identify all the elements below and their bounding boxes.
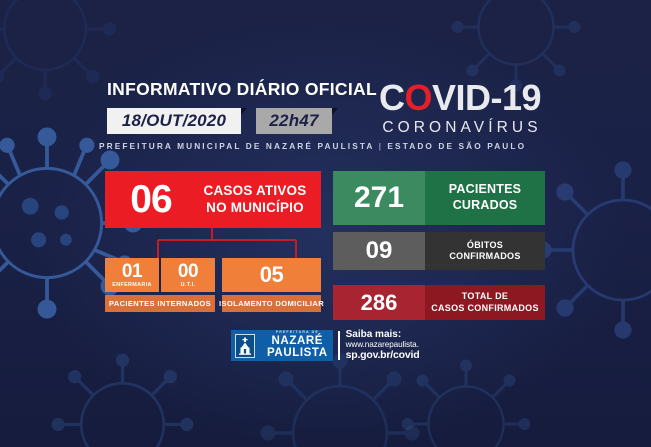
subtitle-state: ESTADO DE SÃO PAULO <box>387 141 526 151</box>
total-confirmed-value: 286 <box>333 285 425 320</box>
hospitalized-icu-cell: 00 U.T.I. <box>159 258 215 292</box>
city-crest-icon <box>235 334 255 358</box>
home-isolation-cells: 05 <box>222 258 321 292</box>
covid-letter-o-accent: O <box>404 77 432 118</box>
virus-decoration-icon <box>40 342 205 447</box>
cured-value: 271 <box>333 171 425 225</box>
breakdown-connector <box>148 228 318 259</box>
covid-wordmark: COVID-19 <box>364 80 556 116</box>
active-cases-label-line2: NO MUNICÍPIO <box>206 200 304 217</box>
cured-label-line2: CURADOS <box>453 198 518 214</box>
hospitalized-cells: 01 ENFERMARIA 00 U.T.I. <box>105 258 215 292</box>
hospitalized-icu-value: 00 <box>178 262 198 281</box>
infographic-canvas: INFORMATIVO DIÁRIO OFICIAL 18/OUT/2020 2… <box>0 0 651 447</box>
stat-card-cured: 271 PACIENTES CURADOS <box>333 171 545 225</box>
covid19-logo: COVID-19 CORONAVÍRUS <box>364 80 556 136</box>
deaths-value: 09 <box>333 232 425 270</box>
covid-word-rest: VID-19 <box>432 77 541 118</box>
home-isolation-value: 05 <box>260 264 283 286</box>
total-confirmed-label-line1: TOTAL DE <box>462 291 508 302</box>
home-isolation-footer-label: ISOLAMENTO DOMICILIAR <box>222 295 321 312</box>
city-name-line1: NAZARÉ <box>267 336 328 348</box>
home-isolation-cell: 05 <box>222 258 321 292</box>
date-badge: 18/OUT/2020 <box>107 108 241 134</box>
hospitalized-ward-value: 01 <box>122 262 142 281</box>
subtitle-bar: PREFEITURA MUNICIPAL DE NAZARÉ PAULISTA … <box>99 141 526 151</box>
breakdown-hospitalized: 01 ENFERMARIA 00 U.T.I. PACIENTES INTERN… <box>105 258 215 312</box>
cured-label: PACIENTES CURADOS <box>425 171 545 225</box>
time-badge-label: 22h47 <box>269 111 318 131</box>
date-badge-label: 18/OUT/2020 <box>122 111 226 131</box>
footer-divider <box>338 331 340 360</box>
website-block[interactable]: Saiba mais: www.nazarepaulista. sp.gov.b… <box>346 330 420 361</box>
city-brand: PREFEITURA DE NAZARÉ PAULISTA <box>231 330 333 361</box>
footer-bar: PREFEITURA DE NAZARÉ PAULISTA Saiba mais… <box>231 330 419 361</box>
deaths-label-line2: CONFIRMADOS <box>449 251 520 262</box>
stat-card-total-confirmed: 286 TOTAL DE CASOS CONFIRMADOS <box>333 285 545 320</box>
hospitalized-footer-label: PACIENTES INTERNADOS <box>105 295 215 312</box>
total-confirmed-label-line2: CASOS CONFIRMADOS <box>431 303 539 314</box>
breakdown-home-isolation: 05 ISOLAMENTO DOMICILIAR <box>222 258 321 312</box>
deaths-label-line1: ÓBITOS <box>467 240 503 251</box>
hospitalized-ward-cell: 01 ENFERMARIA <box>105 258 159 292</box>
active-cases-value: 06 <box>105 171 197 228</box>
cured-label-line1: PACIENTES <box>449 182 521 198</box>
virus-decoration-icon <box>391 349 541 447</box>
stat-card-active-cases: 06 CASOS ATIVOS NO MUNICÍPIO <box>105 171 321 228</box>
deaths-label: ÓBITOS CONFIRMADOS <box>425 232 545 270</box>
time-badge: 22h47 <box>256 108 332 134</box>
covid-letter-c: C <box>379 77 405 118</box>
hospitalized-icu-label: U.T.I. <box>181 283 196 288</box>
hospitalized-ward-label: ENFERMARIA <box>112 283 151 288</box>
page-title: INFORMATIVO DIÁRIO OFICIAL <box>107 79 377 100</box>
city-name-line2: PAULISTA <box>267 348 328 360</box>
coronavirus-subtitle: CORONAVÍRUS <box>364 120 556 136</box>
city-name-block: PREFEITURA DE NAZARÉ PAULISTA <box>267 331 328 360</box>
website-url-line2: sp.gov.br/covid <box>346 350 420 361</box>
stat-card-deaths: 09 ÓBITOS CONFIRMADOS <box>333 232 545 270</box>
active-cases-label-line1: CASOS ATIVOS <box>204 183 307 200</box>
active-cases-label: CASOS ATIVOS NO MUNICÍPIO <box>197 171 321 228</box>
subtitle-municipality: PREFEITURA MUNICIPAL DE NAZARÉ PAULISTA <box>99 141 374 151</box>
subtitle-separator: | <box>379 141 383 151</box>
total-confirmed-label: TOTAL DE CASOS CONFIRMADOS <box>425 285 545 320</box>
